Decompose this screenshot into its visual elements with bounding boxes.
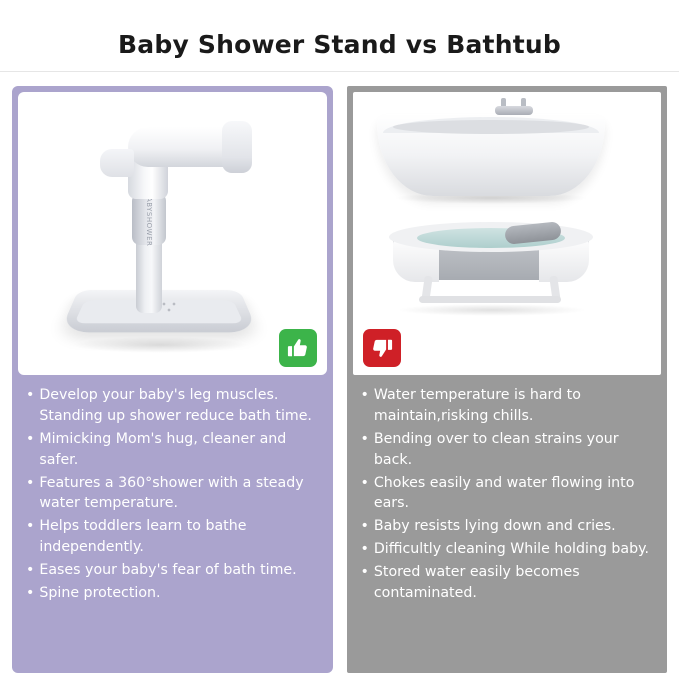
bullet-text: Spine protection. [39,583,320,604]
left-column-shower-stand: BABYSHOWER • Develop your baby's leg mus… [12,86,333,673]
bullet-dot: • [361,539,369,560]
bullet-text: Baby resists lying down and cries. [374,516,655,537]
page-title: Baby Shower Stand vs Bathtub [0,0,679,71]
list-item: • Features a 360°shower with a steady wa… [26,473,321,515]
bullet-text: Stored water easily becomes contaminated… [374,562,655,604]
stand-end-cap [222,121,252,173]
list-item: • Develop your baby's leg muscles. Stand… [26,385,321,427]
bullet-dot: • [361,385,369,406]
bullet-text: Bending over to clean strains your back. [374,429,655,471]
bullet-text: Chokes easily and water flowing into ear… [374,473,655,515]
bullet-text: Helps toddlers learn to bathe independen… [39,516,320,558]
faucet-spout [495,106,533,115]
left-bullet-list: • Develop your baby's leg muscles. Stand… [18,375,327,667]
list-item: • Bending over to clean strains your bac… [361,429,656,471]
bullet-dot: • [361,562,369,583]
list-item: • Eases your baby's fear of bath time. [26,560,321,581]
bullet-dot: • [361,516,369,537]
folding-tub-support-bar [419,296,561,303]
bullet-text: Difficultly cleaning While holding baby. [374,539,655,560]
bullet-text: Mimicking Mom's hug, cleaner and safer. [39,429,320,471]
thumbs-up-icon [279,329,317,367]
folding-baby-tub [383,222,599,308]
stand-brand-label: BABYSHOWER [121,200,177,238]
thumbs-down-icon [363,329,401,367]
bathtub-inner [393,120,589,134]
bullet-text: Develop your baby's leg muscles. Standin… [39,385,320,427]
right-column-bathtub: • Water temperature is hard to maintain,… [347,86,668,673]
list-item: • Baby resists lying down and cries. [361,516,656,537]
faucet-icon [491,98,537,120]
bullet-dot: • [26,429,34,450]
bullet-dot: • [26,385,34,406]
bullet-text: Eases your baby's fear of bath time. [39,560,320,581]
right-bullet-list: • Water temperature is hard to maintain,… [353,375,662,667]
bullet-dot: • [361,429,369,450]
stand-grip [100,149,134,177]
shower-stand-image: BABYSHOWER [18,92,327,375]
bullet-text: Features a 360°shower with a steady wate… [39,473,320,515]
list-item: • Water temperature is hard to maintain,… [361,385,656,427]
list-item: • Chokes easily and water flowing into e… [361,473,656,515]
list-item: • Helps toddlers learn to bathe independ… [26,516,321,558]
bullet-dot: • [26,560,34,581]
freestanding-bathtub [377,114,605,196]
list-item: • Stored water easily becomes contaminat… [361,562,656,604]
list-item: • Difficultly cleaning While holding bab… [361,539,656,560]
comparison-columns: BABYSHOWER • Develop your baby's leg mus… [0,72,679,673]
bullet-text: Water temperature is hard to maintain,ri… [374,385,655,427]
bullet-dot: • [361,473,369,494]
bullet-dot: • [26,516,34,537]
bullet-dot: • [26,583,34,604]
bathtub-image [353,92,662,375]
list-item: • Spine protection. [26,583,321,604]
bullet-dot: • [26,473,34,494]
stand-shadow [72,337,248,353]
list-item: • Mimicking Mom's hug, cleaner and safer… [26,429,321,471]
comparison-infographic: Baby Shower Stand vs Bathtub BABYSHOWER [0,0,679,679]
